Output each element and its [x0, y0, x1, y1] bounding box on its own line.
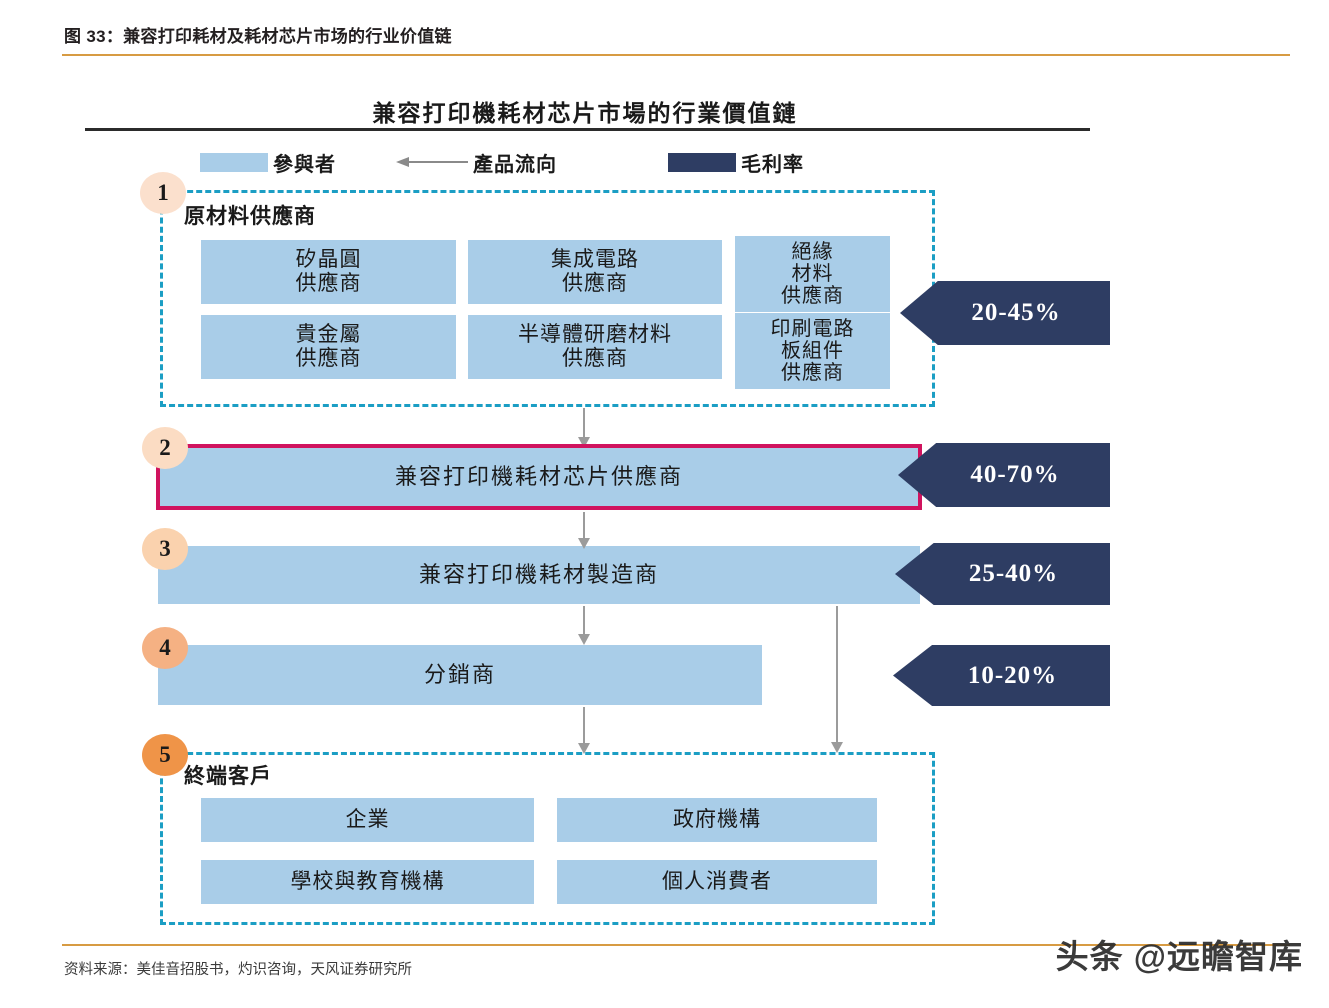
margin-chevron-2: 40-70% [898, 443, 1110, 507]
stage-5-item-1: 政府機構 [557, 798, 877, 842]
header-divider [62, 54, 1290, 56]
legend-swatch-participant-icon [200, 153, 268, 172]
stage-1-item-2: 絕緣 材料 供應商 [735, 236, 890, 312]
stage-5-label: 終端客戶 [184, 760, 272, 790]
chart-title-divider [85, 127, 1090, 131]
stage-5-item-0: 企業 [201, 798, 534, 842]
stage-1-item-3: 貴金屬 供應商 [201, 315, 456, 379]
legend-item-participant: 參與者 [200, 148, 336, 176]
figure-page: 图 33：兼容打印耗材及耗材芯片市场的行业价值链 兼容打印機耗材芯片市場的行業價… [0, 0, 1329, 1008]
watermark: 头条 @远瞻智库 [1056, 930, 1303, 978]
stage-1-item-4: 半導體研磨材料 供應商 [468, 315, 722, 379]
legend-label-margin: 毛利率 [741, 148, 804, 177]
source-note: 资料来源：美佳音招股书，灼识咨询，天风证券研究所 [64, 958, 412, 979]
stage-1-item-1: 集成電路 供應商 [468, 240, 722, 304]
stage-badge-5: 5 [142, 734, 188, 776]
margin-chevron-4: 10-20% [893, 645, 1110, 706]
legend-item-flow: 產品流向 [396, 148, 557, 176]
stage-badge-3: 3 [142, 528, 188, 570]
stage-badge-4: 4 [142, 627, 188, 669]
figure-caption: 图 33：兼容打印耗材及耗材芯片市场的行业价值链 [64, 22, 452, 47]
stage-1-item-5: 印刷電路 板組件 供應商 [735, 313, 890, 389]
stage-1-item-0: 矽晶圓 供應商 [201, 240, 456, 304]
stage-4-box: 分銷商 [158, 645, 762, 705]
legend-swatch-margin-icon [668, 153, 736, 172]
margin-chevron-1: 20-45% [900, 281, 1110, 345]
legend-label-flow: 產品流向 [473, 148, 557, 177]
stage-3-box: 兼容打印機耗材製造商 [158, 546, 920, 604]
stage-badge-1: 1 [140, 172, 186, 214]
stage-5-item-3: 個人消費者 [557, 860, 877, 904]
stage-1-label: 原材料供應商 [184, 200, 316, 230]
stage-5-item-2: 學校與教育機構 [201, 860, 534, 904]
stage-2-box: 兼容打印機耗材芯片供應商 [158, 446, 920, 508]
legend-item-margin: 毛利率 [668, 148, 804, 176]
flow-arrow-icon [396, 155, 468, 169]
margin-chevron-3: 25-40% [895, 543, 1110, 605]
legend-label-participant: 參與者 [273, 148, 336, 177]
stage-badge-2: 2 [142, 427, 188, 469]
chart-title: 兼容打印機耗材芯片市場的行業價值鏈 [0, 94, 1170, 128]
